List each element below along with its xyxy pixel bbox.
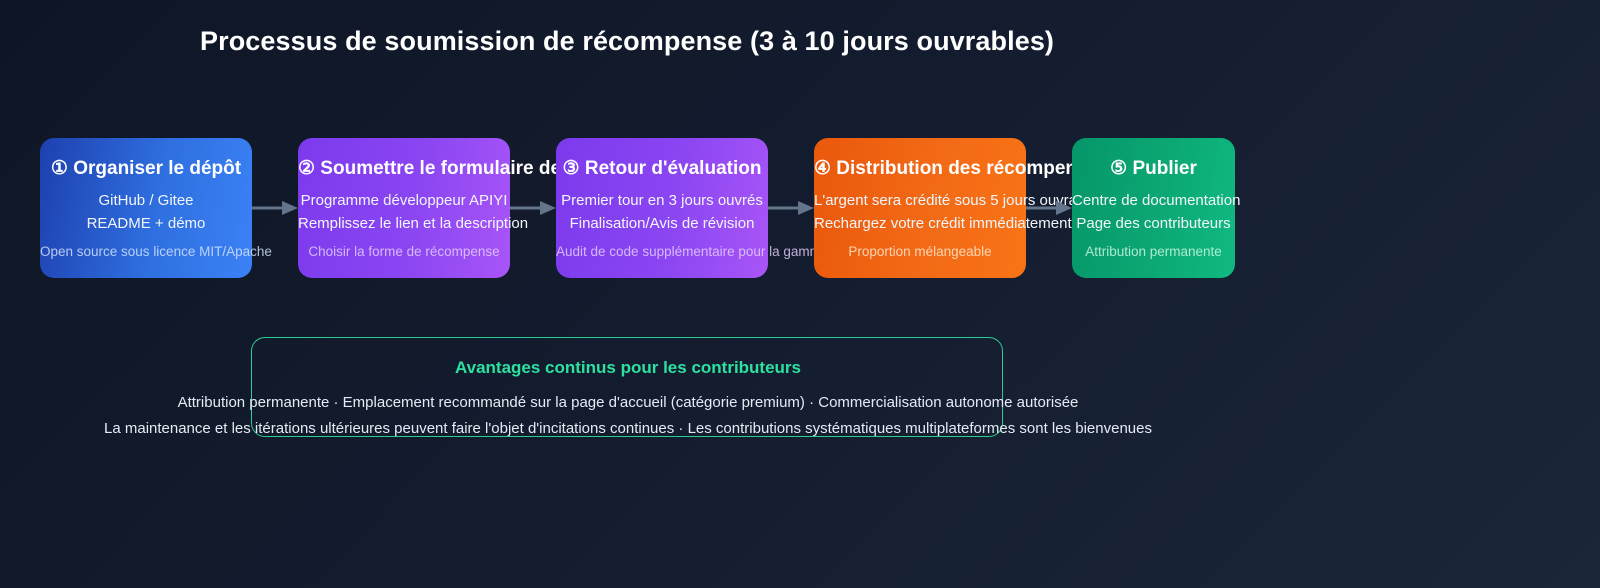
step-detail-line: Centre de documentation bbox=[1072, 189, 1235, 212]
arrow-right-icon bbox=[252, 201, 298, 215]
step-detail-line: L'argent sera crédité sous 5 jours ouvra… bbox=[814, 189, 1026, 212]
step-note: Choisir la forme de récompense bbox=[298, 242, 510, 262]
step-detail-line: GitHub / Gitee bbox=[40, 189, 252, 212]
arrow-right-icon bbox=[510, 201, 556, 215]
step-detail-line: README + démo bbox=[40, 212, 252, 235]
step-note: Open source sous licence MIT/Apache bbox=[40, 242, 252, 262]
benefits-panel: Avantages continus pour les contributeur… bbox=[251, 337, 1003, 437]
benefits-line: La maintenance et les itérations ultérie… bbox=[0, 416, 1380, 442]
arrow-right-icon bbox=[1026, 201, 1072, 215]
step-note: Audit de code supplémentaire pour la gam… bbox=[556, 242, 768, 262]
benefits-body: Attribution permanente · Emplacement rec… bbox=[0, 390, 1380, 442]
step-detail-line: Rechargez votre crédit immédiatement bbox=[814, 212, 1026, 235]
step-card-5[interactable]: ⑤ Publier Centre de documentation Page d… bbox=[1072, 138, 1235, 278]
step-detail-line: Programme développeur APIYI bbox=[298, 189, 510, 212]
benefits-title: Avantages continus pour les contributeur… bbox=[252, 358, 1004, 378]
step-note: Proportion mélangeable bbox=[814, 242, 1026, 262]
step-card-3[interactable]: ③ Retour d'évaluation Premier tour en 3 … bbox=[556, 138, 768, 278]
arrow-right-icon bbox=[768, 201, 814, 215]
step-title: ⑤ Publier bbox=[1072, 158, 1235, 180]
step-detail-line: Remplissez le lien et la description bbox=[298, 212, 510, 235]
step-title: ③ Retour d'évaluation bbox=[556, 158, 768, 180]
process-flow-row: ① Organiser le dépôt GitHub / Gitee READ… bbox=[40, 138, 1225, 278]
page-title: Processus de soumission de récompense (3… bbox=[200, 26, 1054, 57]
step-card-4[interactable]: ④ Distribution des récompenses L'argent … bbox=[814, 138, 1026, 278]
step-card-2[interactable]: ② Soumettre le formulaire de contributio… bbox=[298, 138, 510, 278]
step-detail-line: Page des contributeurs bbox=[1072, 212, 1235, 235]
step-card-1[interactable]: ① Organiser le dépôt GitHub / Gitee READ… bbox=[40, 138, 252, 278]
benefits-line: Attribution permanente · Emplacement rec… bbox=[0, 390, 1380, 416]
step-detail-line: Finalisation/Avis de révision bbox=[556, 212, 768, 235]
step-title: ② Soumettre le formulaire de contributio… bbox=[298, 158, 510, 180]
step-detail-line: Premier tour en 3 jours ouvrés bbox=[556, 189, 768, 212]
diagram-canvas: Processus de soumission de récompense (3… bbox=[0, 0, 1600, 588]
step-note: Attribution permanente bbox=[1072, 242, 1235, 262]
step-title: ① Organiser le dépôt bbox=[40, 158, 252, 180]
step-title: ④ Distribution des récompenses bbox=[814, 158, 1026, 180]
